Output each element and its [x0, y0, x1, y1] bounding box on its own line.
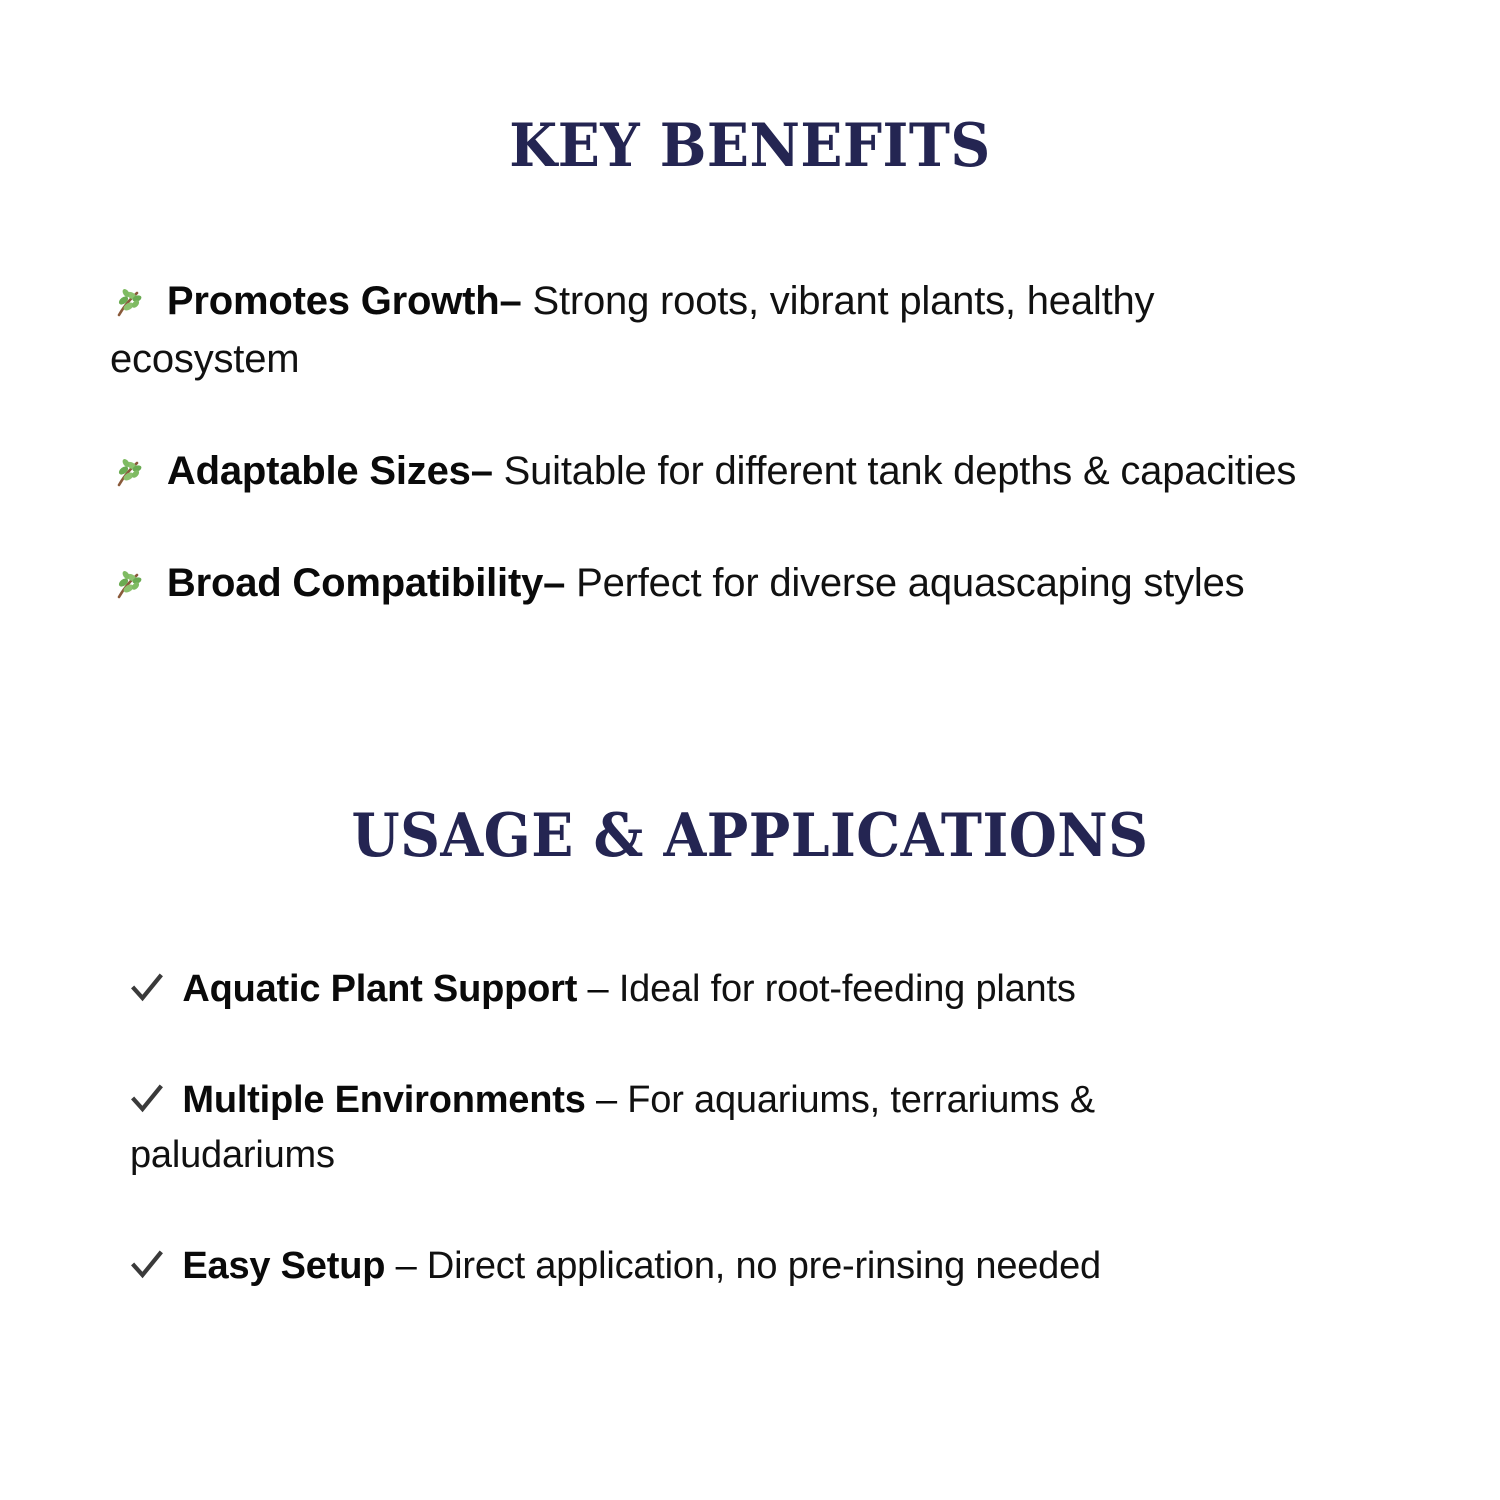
list-item-term: Aquatic Plant Support [182, 968, 577, 1010]
list-item-term: Adaptable Sizes [167, 449, 471, 493]
list-item: Adaptable Sizes– Suitable for different … [110, 442, 1300, 500]
list-item: Promotes Growth– Strong roots, vibrant p… [110, 272, 1300, 388]
herb-icon [110, 560, 146, 596]
key-benefits-heading: KEY BENEFITS [60, 116, 1440, 176]
usage-applications-list: Aquatic Plant Support – Ideal for root-f… [130, 962, 1310, 1294]
list-item: Multiple Environments – For aquariums, t… [130, 1073, 1310, 1183]
list-item-separator: – [500, 279, 522, 323]
key-benefits-list: Promotes Growth– Strong roots, vibrant p… [110, 272, 1300, 612]
list-item-separator: – [471, 449, 493, 493]
herb-icon [110, 448, 146, 484]
list-item-separator: – [543, 561, 565, 605]
list-item-term: Easy Setup [182, 1245, 385, 1287]
usage-applications-heading: USAGE & APPLICATIONS [60, 806, 1440, 866]
list-item: Easy Setup – Direct application, no pre-… [130, 1239, 1310, 1294]
list-item: Broad Compatibility– Perfect for diverse… [110, 554, 1300, 612]
check-icon [130, 1243, 164, 1277]
list-item-separator: – [588, 968, 609, 1010]
check-icon [130, 1077, 164, 1111]
list-item-separator: – [396, 1245, 417, 1287]
list-item-description: Ideal for root-feeding plants [619, 968, 1076, 1010]
list-item-description: Direct application, no pre-rinsing neede… [427, 1245, 1101, 1287]
list-item-separator: – [596, 1079, 617, 1121]
list-item-term: Multiple Environments [182, 1079, 585, 1121]
herb-icon [110, 278, 146, 314]
product-feature-panel: KEY BENEFITS Promotes Growth– Strong roo… [0, 0, 1500, 1500]
list-item-term: Promotes Growth [167, 279, 500, 323]
list-item-term: Broad Compatibility [167, 561, 543, 605]
list-item-description: Suitable for different tank depths & cap… [504, 449, 1297, 493]
list-item-description: Perfect for diverse aquascaping styles [576, 561, 1244, 605]
check-icon [130, 966, 164, 1000]
list-item: Aquatic Plant Support – Ideal for root-f… [130, 962, 1310, 1017]
